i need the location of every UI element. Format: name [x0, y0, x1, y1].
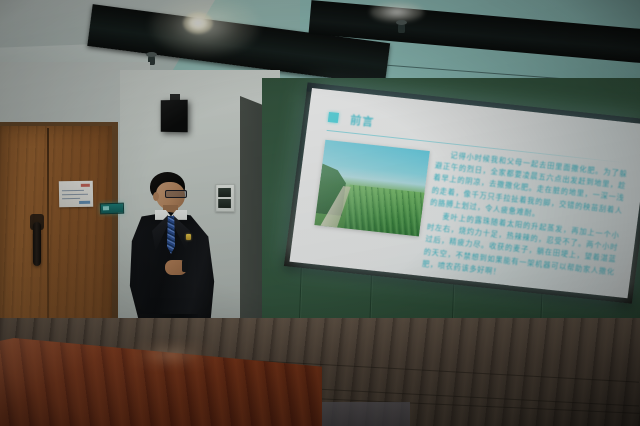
- recessed-ceiling-spotlight-icon: [370, 2, 424, 22]
- presentation-clicker: [182, 260, 188, 272]
- lapel-badge-icon: [186, 234, 191, 240]
- slide-body-text: 记得小时候我和父母一起去田里面撒化肥。为了躲避正午的烈日，全家都要凌晨五六点出发…: [421, 148, 628, 292]
- wooden-double-door[interactable]: [0, 126, 112, 338]
- notice-text-line: [62, 190, 84, 191]
- door-center-split: [47, 128, 49, 336]
- photo-crop-rows: [344, 185, 427, 237]
- presentation-slide: 前言 记得小时候我和父母一起去田里面撒化肥。为了躲避正午的烈日，全家都要凌晨五六…: [289, 88, 640, 298]
- slide-bullet-square-icon: [328, 112, 339, 123]
- notice-text-line: [62, 194, 88, 195]
- notice-accent-bar: [81, 184, 90, 187]
- ceiling-sprinkler-icon: [398, 22, 405, 33]
- lecture-room-photo: 前言 记得小时候我和父母一起去田里面撒化肥。为了躲避正午的烈日，全家都要凌晨五六…: [0, 0, 640, 426]
- door-handle[interactable]: [33, 222, 41, 266]
- notice-text-line: [62, 198, 80, 199]
- slide-photo-cornfield: [314, 140, 429, 237]
- projection-screen: 前言 记得小时候我和父母一起去田里面撒化肥。为了躲避正午的烈日，全家都要凌晨五六…: [289, 88, 640, 298]
- posted-paper-notice: [59, 181, 93, 208]
- wall-mounted-speaker: [161, 100, 188, 133]
- eyeglasses-icon: [165, 190, 187, 198]
- notice-accent-bar: [79, 201, 90, 204]
- slide-title: 前言: [349, 111, 375, 129]
- recessed-ceiling-spotlight-icon: [183, 12, 213, 34]
- striped-necktie: [167, 216, 175, 254]
- table-reflection: [130, 340, 210, 370]
- presenter-ear: [153, 192, 159, 201]
